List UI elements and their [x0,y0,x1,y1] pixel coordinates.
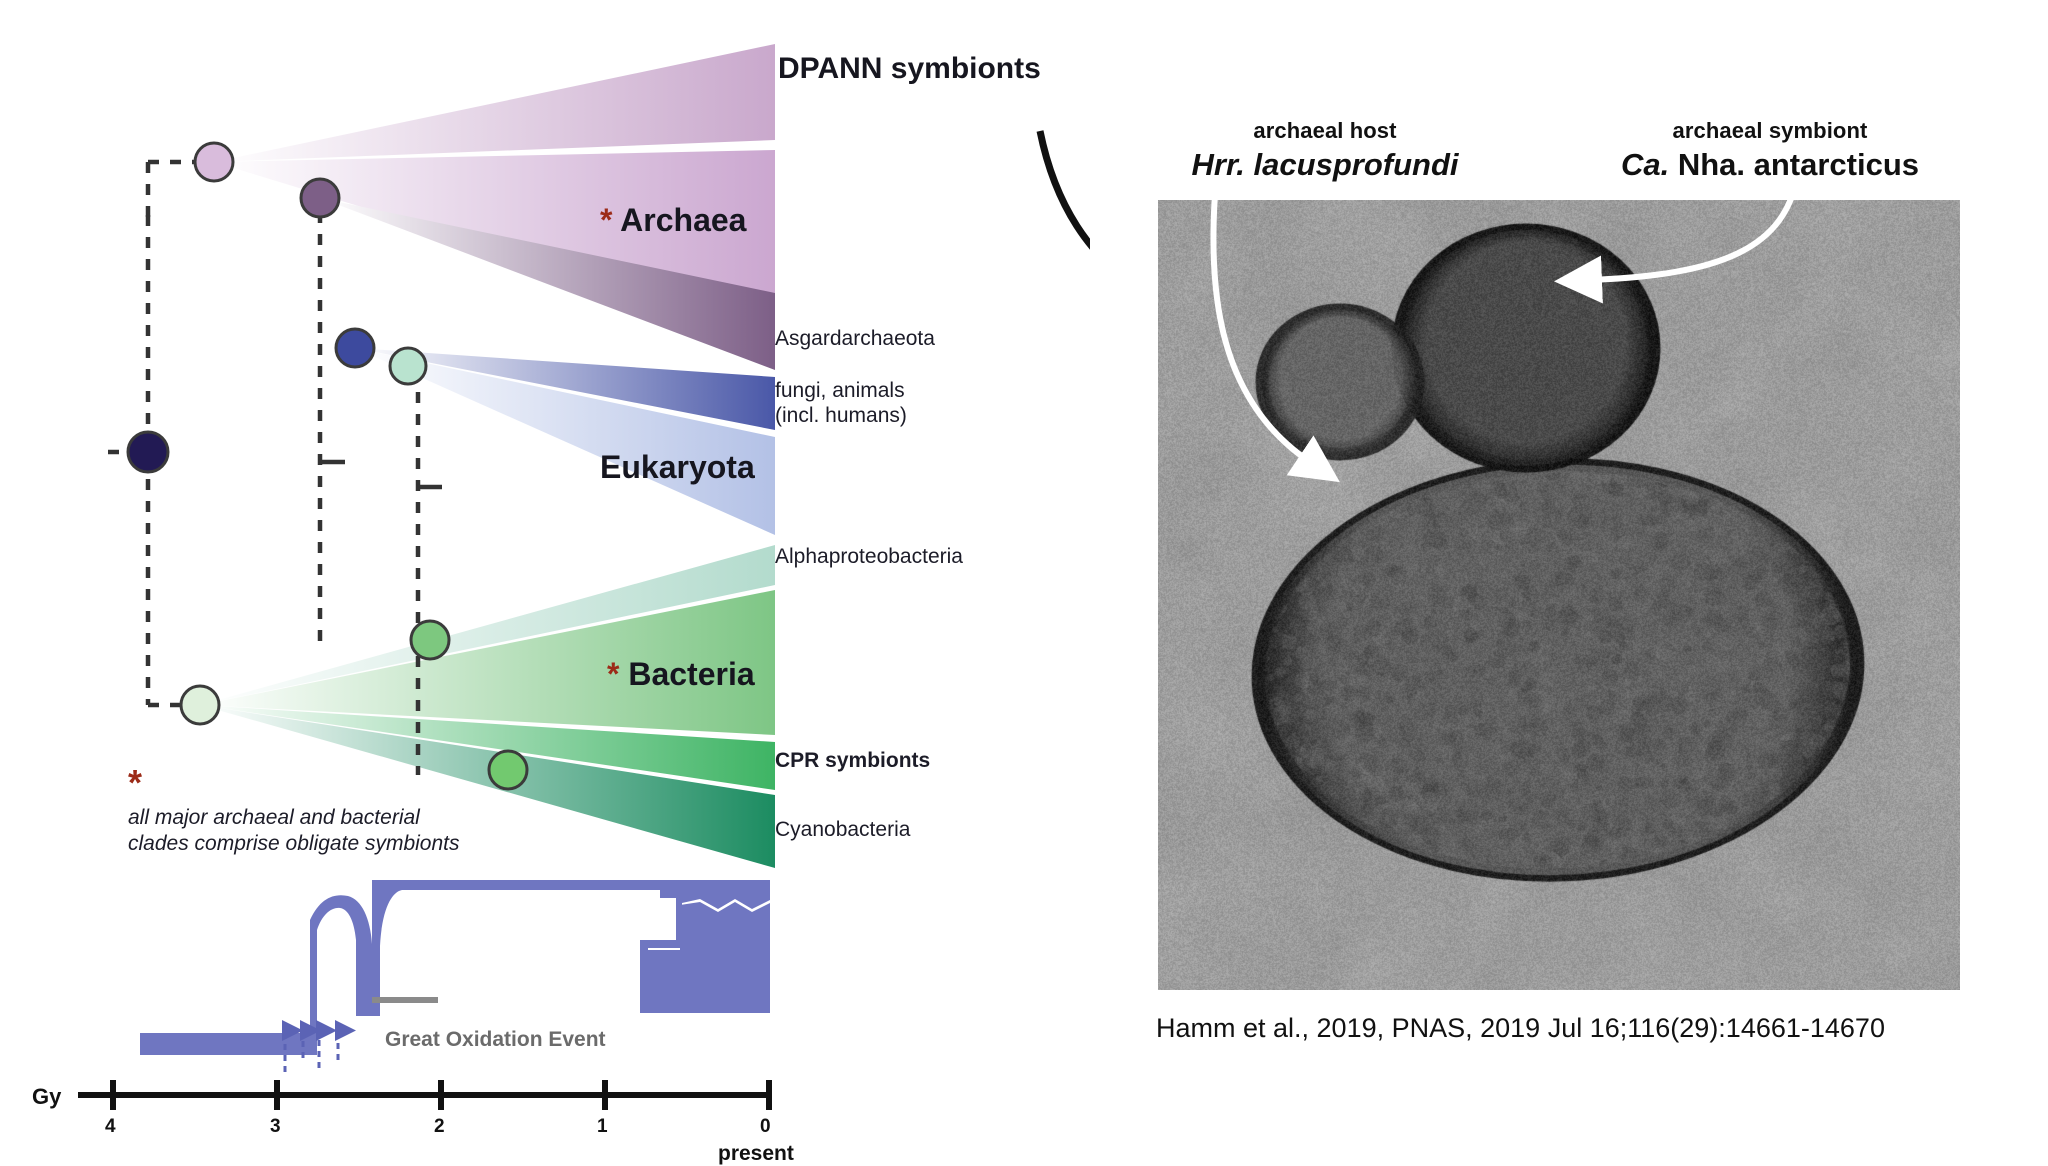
node-luca[interactable] [128,432,168,472]
axis-tick-label-3: 3 [270,1116,281,1138]
symbiont-candidatus-prefix: Ca. [1621,147,1669,182]
footnote: * all major archaeal and bacterial clade… [128,770,558,858]
axis-tick-label-0: 0 [760,1116,771,1138]
tip-label-fungi-line1: fungi, animals [775,378,907,403]
axis-tick-label-1: 1 [597,1116,608,1138]
clade-label-dpann: DPANN symbionts [778,52,1041,86]
asterisk-icon: * [600,202,612,238]
host-genus: Hrr. [1192,147,1245,182]
axis-tick-label-2: 2 [434,1116,445,1138]
clade-label-archaea: * Archaea [600,202,746,239]
micrograph-host-caption: archaeal host Hrr. lacusprofundi [1160,118,1490,183]
host-species: lacusprofundi [1254,147,1459,182]
node-asgard[interactable] [301,179,339,217]
symbiont-caption-name: Ca. Nha. antarcticus [1570,147,1970,183]
symbiont-name: Nha. antarcticus [1678,147,1919,182]
dpann-pointer-arrow [1040,131,1090,288]
footnote-text: all major archaeal and bacterial clades … [128,805,558,858]
tree-of-life-panel: DPANN symbionts * Archaea Eukaryota * Ba… [0,0,1090,1152]
axis-tick-label-4: 4 [105,1116,116,1138]
axis-label-gy: Gy [32,1084,61,1110]
axis-label-present: present [718,1142,794,1166]
node-bacteria[interactable] [411,621,449,659]
clade-label-dpann-text: DPANN symbionts [778,52,1041,85]
micrograph-symbiont-caption: archaeal symbiont Ca. Nha. antarcticus [1570,118,1970,183]
footnote-line2: clades comprise obligate symbionts [128,832,460,855]
host-caption-sub: archaeal host [1160,118,1490,144]
footnote-asterisk-icon: * [128,770,558,795]
micrograph-panel: archaeal host Hrr. lacusprofundi archaea… [1090,0,2048,1152]
node-laca[interactable] [195,143,233,181]
tip-label-alphaproteobacteria: Alphaproteobacteria [775,545,963,569]
phylogenetic-tree-graphic [0,0,1090,1152]
citation-text: Hamm et al., 2019, PNAS, 2019 Jul 16;116… [1156,1013,1885,1044]
clade-label-eukaryota: Eukaryota [600,449,755,486]
tip-label-fungi-line2: (incl. humans) [775,403,907,428]
clade-label-bacteria: * Bacteria [607,656,755,693]
clade-label-eukaryota-text: Eukaryota [600,449,755,485]
tip-label-fungi-animals: fungi, animals (incl. humans) [775,378,907,428]
tip-label-cyanobacteria: Cyanobacteria [775,818,910,842]
wedge-dpann [214,44,775,162]
time-axis [78,1080,772,1110]
node-eukaryote-origin[interactable] [336,329,374,367]
host-arrow [1213,200,1310,462]
asterisk-icon: * [607,656,619,692]
clade-label-bacteria-text: Bacteria [628,656,754,692]
node-lbca[interactable] [181,686,219,724]
symbiont-caption-sub: archaeal symbiont [1570,118,1970,144]
micrograph-annotation-arrows [1158,200,1960,990]
footnote-line1: all major archaeal and bacterial [128,806,420,829]
backbone-branch-caps [318,462,442,487]
node-eukaryote-crown[interactable] [390,348,426,384]
tip-label-cpr-symbionts: CPR symbionts [775,749,930,773]
annotation-great-oxidation-event: Great Oxidation Event [385,1028,606,1052]
host-caption-species: Hrr. lacusprofundi [1160,147,1490,183]
tip-label-asgardarchaeota: Asgardarchaeota [775,327,935,351]
clade-label-archaea-text: Archaea [620,202,746,238]
symbiont-arrow [1590,200,1798,280]
electron-micrograph-image: 1 µm [1158,200,1960,990]
